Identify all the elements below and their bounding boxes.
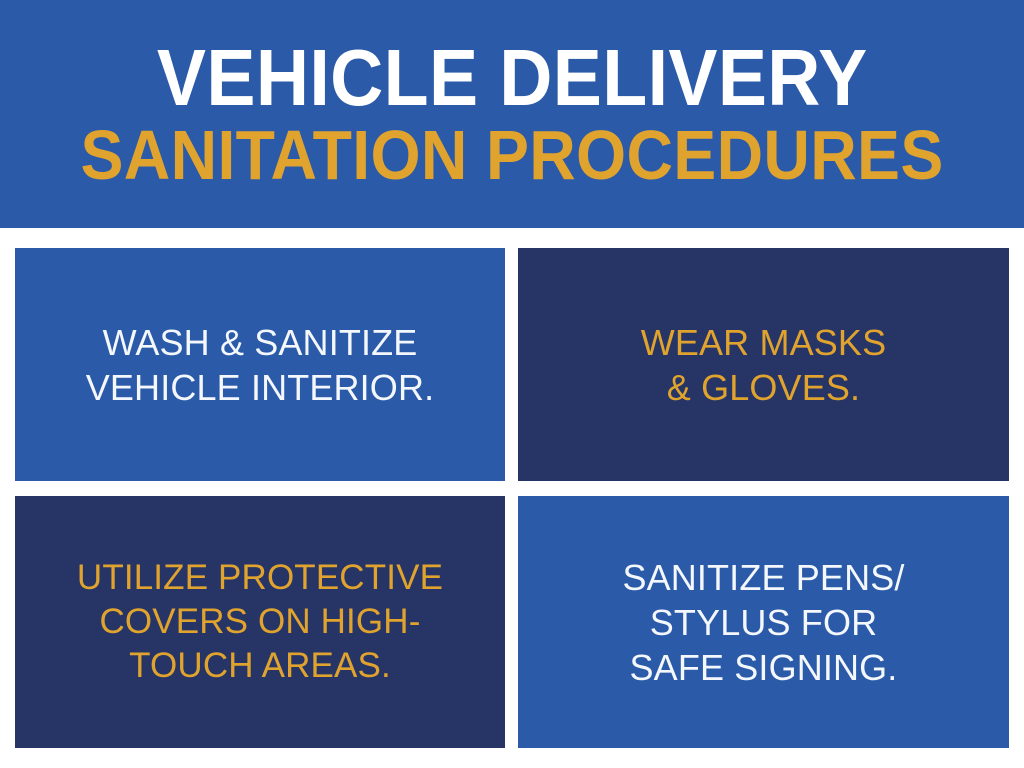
page-title-secondary: SANITATION PROCEDURES	[80, 122, 943, 189]
procedure-panel-protective-covers-high-touch: UTILIZE PROTECTIVE COVERS ON HIGH- TOUCH…	[15, 496, 505, 748]
procedure-panel-label: SANITIZE PENS/ STYLUS FOR SAFE SIGNING.	[622, 555, 904, 690]
procedure-panel-wear-masks-gloves: WEAR MASKS & GLOVES.	[518, 248, 1009, 481]
procedure-panel-label: WEAR MASKS & GLOVES.	[641, 320, 886, 410]
procedure-panel-label: UTILIZE PROTECTIVE COVERS ON HIGH- TOUCH…	[77, 556, 443, 687]
header-banner: VEHICLE DELIVERY SANITATION PROCEDURES	[0, 0, 1024, 228]
procedure-panel-grid: WASH & SANITIZE VEHICLE INTERIOR. WEAR M…	[15, 248, 1009, 748]
infographic-poster: VEHICLE DELIVERY SANITATION PROCEDURES W…	[0, 0, 1024, 768]
procedure-panel-wash-sanitize-vehicle-interior: WASH & SANITIZE VEHICLE INTERIOR.	[15, 248, 505, 481]
procedure-panel-label: WASH & SANITIZE VEHICLE INTERIOR.	[86, 320, 435, 410]
page-title-primary: VEHICLE DELIVERY	[157, 40, 868, 116]
procedure-panel-sanitize-pens-stylus: SANITIZE PENS/ STYLUS FOR SAFE SIGNING.	[518, 496, 1009, 748]
